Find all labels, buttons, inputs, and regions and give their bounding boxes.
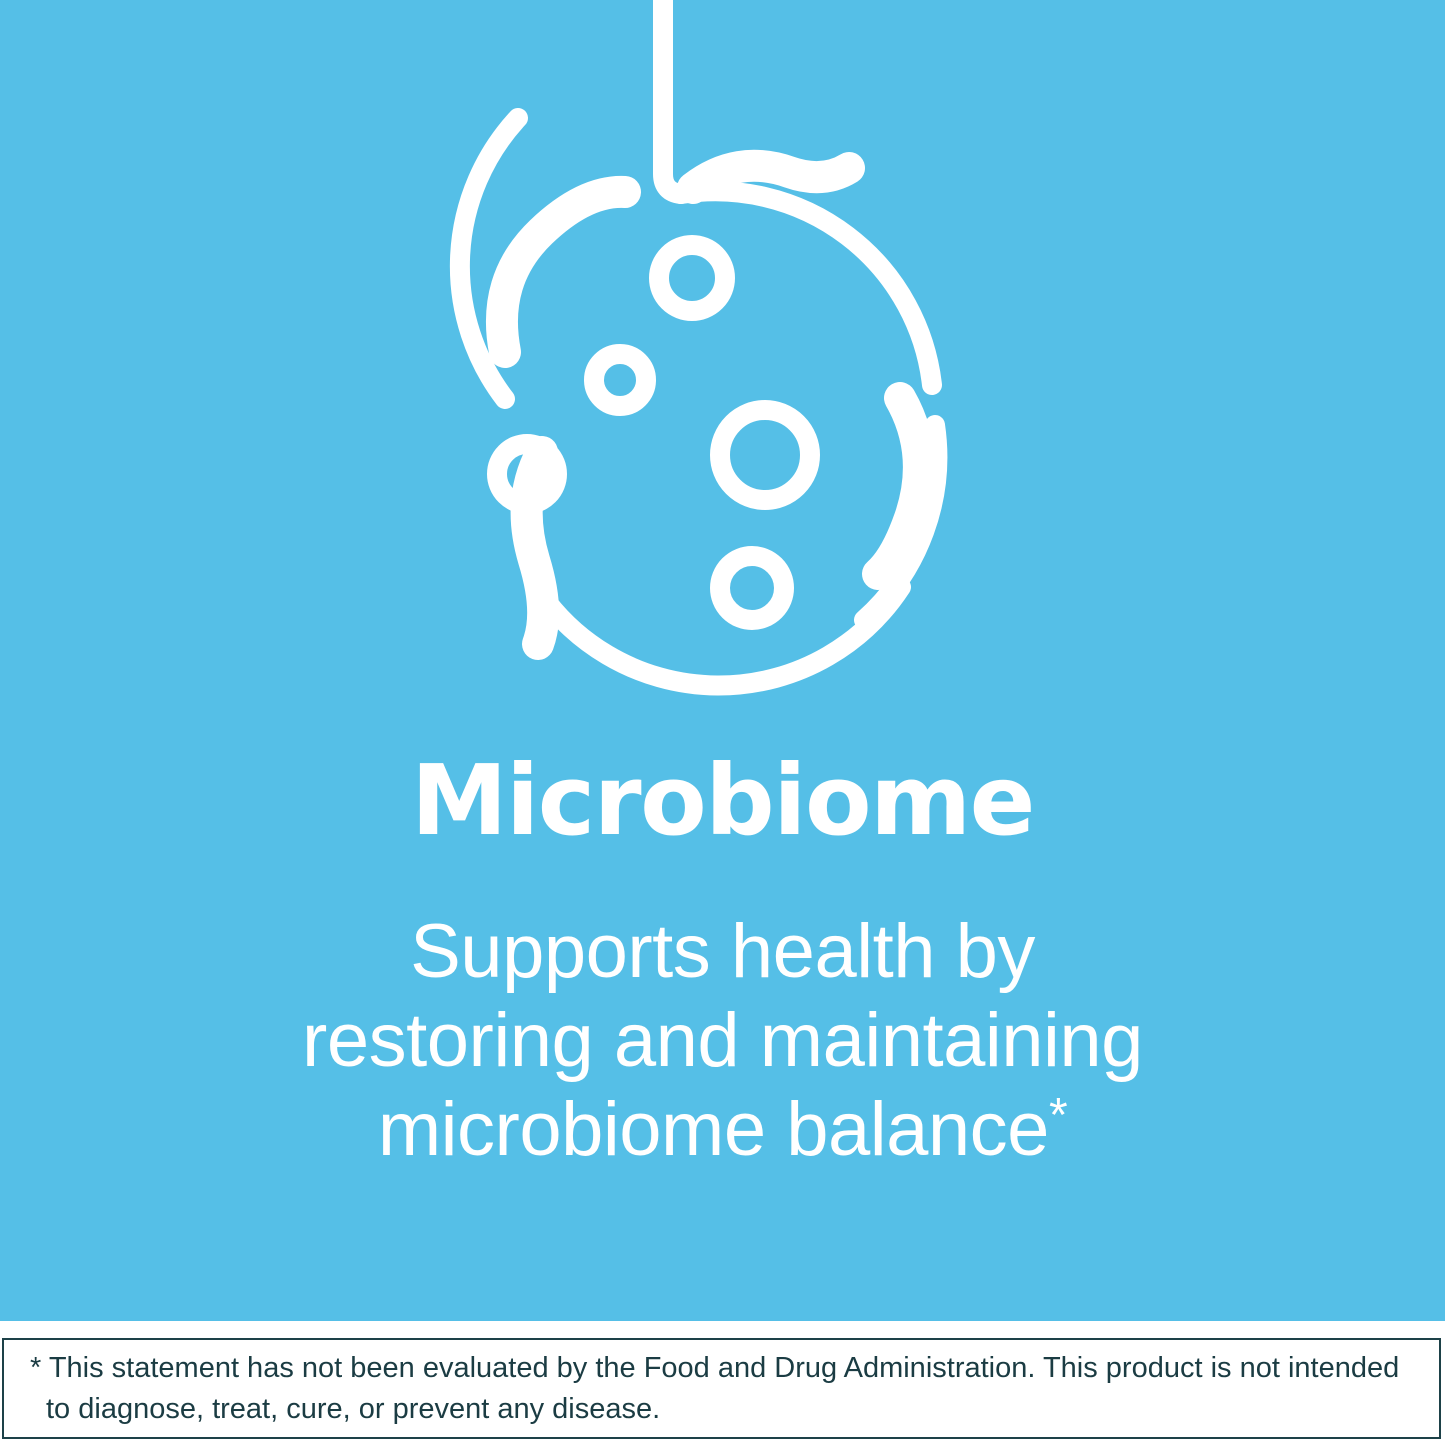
disclaimer-text: * This statement has not been evaluated … <box>4 1348 1439 1430</box>
benefit-card: Microbiome Supports health by restoring … <box>0 0 1445 1445</box>
cocci-center <box>594 354 646 406</box>
footnote-marker: * <box>1049 1089 1067 1142</box>
cocci-large <box>720 410 810 500</box>
stem-line <box>663 0 681 194</box>
microbiome-petri-dish-icon <box>435 0 1015 700</box>
benefit-description: Supports health by restoring and maintai… <box>120 907 1325 1174</box>
benefit-line-3: microbiome balance <box>378 1087 1049 1172</box>
rod-lower-left <box>527 452 544 644</box>
cocci-lower <box>720 556 784 620</box>
benefit-line-2: restoring and maintaining <box>302 998 1143 1083</box>
rod-upper-right <box>693 166 849 188</box>
disclaimer-box: * This statement has not been evaluated … <box>2 1338 1441 1439</box>
benefit-line-1: Supports health by <box>410 909 1035 994</box>
page-title: Microbiome <box>0 752 1445 849</box>
rod-lower-right <box>878 398 919 574</box>
rod-upper-left <box>502 192 625 352</box>
cocci-upper <box>659 245 725 311</box>
